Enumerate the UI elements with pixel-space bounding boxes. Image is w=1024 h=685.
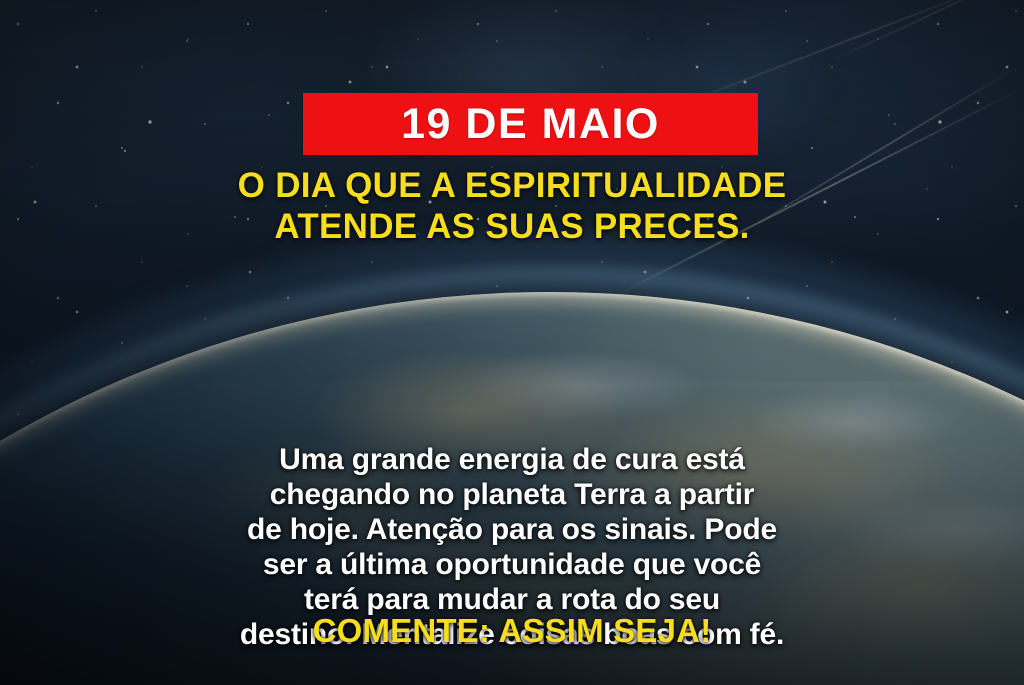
date-banner: 19 DE MAIO	[303, 93, 758, 155]
body-line-4: ser a última oportunidade que você	[34, 548, 990, 583]
call-to-action-label: COMENTE: ASSIM SEJA!	[313, 612, 712, 649]
headline-line-1: O DIA QUE A ESPIRITUALIDADE	[40, 166, 984, 207]
date-banner-label: 19 DE MAIO	[401, 103, 660, 146]
body-line-1: Uma grande energia de cura está	[34, 443, 990, 478]
body-line-3: de hoje. Atenção para os sinais. Pode	[34, 513, 990, 548]
poster-image: 19 DE MAIO O DIA QUE A ESPIRITUALIDADE A…	[0, 0, 1024, 685]
call-to-action: COMENTE: ASSIM SEJA!	[0, 613, 1024, 649]
headline: O DIA QUE A ESPIRITUALIDADE ATENDE AS SU…	[0, 166, 1024, 247]
headline-line-2: ATENDE AS SUAS PRECES.	[40, 207, 984, 248]
body-line-2: chegando no planeta Terra a partir	[34, 478, 990, 513]
poster-content: 19 DE MAIO O DIA QUE A ESPIRITUALIDADE A…	[0, 0, 1024, 685]
